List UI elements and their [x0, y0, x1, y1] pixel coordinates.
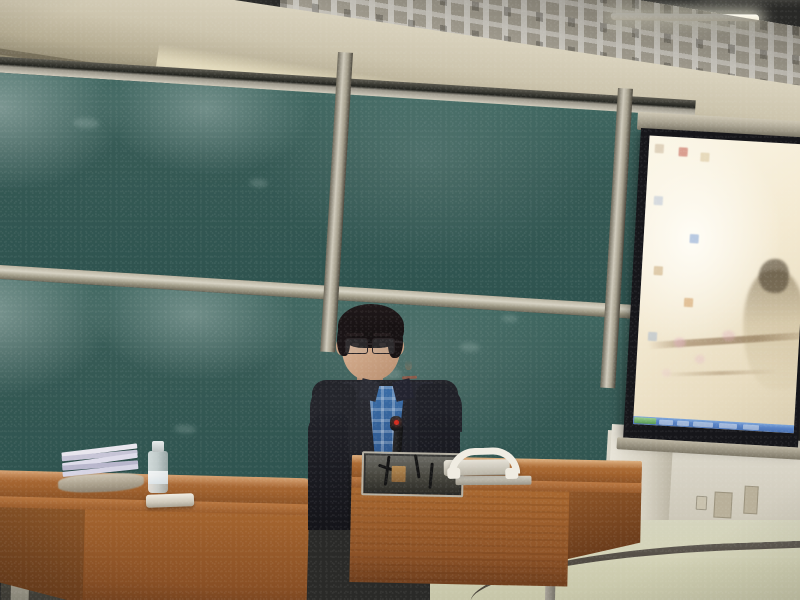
bottle-label	[148, 471, 168, 484]
start-button[interactable]	[634, 417, 656, 424]
taskbar-button-3[interactable]	[693, 421, 713, 427]
wallpaper-blossoms	[650, 136, 800, 145]
desktop-icons[interactable]	[650, 136, 800, 145]
screen-surface	[633, 136, 800, 434]
projection-screen[interactable]	[623, 128, 800, 448]
screen-frame	[623, 128, 800, 448]
wall-outlet-2	[713, 492, 732, 519]
recess-connector-box	[391, 466, 405, 482]
taskbar[interactable]	[633, 416, 794, 433]
icon-document[interactable]	[654, 196, 664, 206]
board-eraser	[146, 493, 194, 508]
microphone-led-icon	[394, 420, 399, 425]
desk-front-panel	[82, 509, 309, 600]
lecture-hall-photo	[0, 0, 800, 600]
water-bottle	[148, 441, 168, 493]
nose	[405, 360, 412, 370]
taskbar-button-2[interactable]	[677, 420, 689, 426]
lectern	[349, 455, 642, 600]
wallpaper-blossom-2	[695, 354, 706, 364]
wallpaper-bird-head	[758, 258, 790, 294]
eyebrow-right	[373, 333, 391, 336]
taskbar-button-1[interactable]	[659, 419, 673, 425]
eyebrow-left	[346, 333, 364, 336]
icon-browser[interactable]	[689, 234, 699, 244]
icon-folder[interactable]	[700, 152, 710, 162]
handset-earpiece-2	[505, 468, 518, 479]
wood-grain	[349, 486, 569, 587]
icon-recycle-bin[interactable]	[655, 144, 665, 154]
handset-earpiece-1	[447, 468, 460, 479]
eyeglasses-left-lens	[345, 338, 368, 354]
icon-my-computer[interactable]	[678, 147, 688, 157]
wall-outlet-3	[743, 486, 759, 515]
icon-app[interactable]	[684, 298, 694, 308]
bottle-cap	[152, 441, 164, 452]
eyeglasses-right-lens	[372, 338, 395, 354]
icon-shortcut[interactable]	[648, 332, 658, 342]
icon-media[interactable]	[654, 266, 664, 276]
taskbar-buttons[interactable]	[633, 416, 794, 425]
metal-trim-bar	[455, 476, 531, 485]
wall-outlet-1	[696, 496, 708, 511]
arm-left	[308, 414, 348, 530]
lectern-front-panel	[349, 486, 569, 587]
taskbar-button-4[interactable]	[719, 422, 737, 428]
taskbar-button-5[interactable]	[743, 424, 759, 430]
eyeglasses-bridge	[366, 343, 372, 345]
